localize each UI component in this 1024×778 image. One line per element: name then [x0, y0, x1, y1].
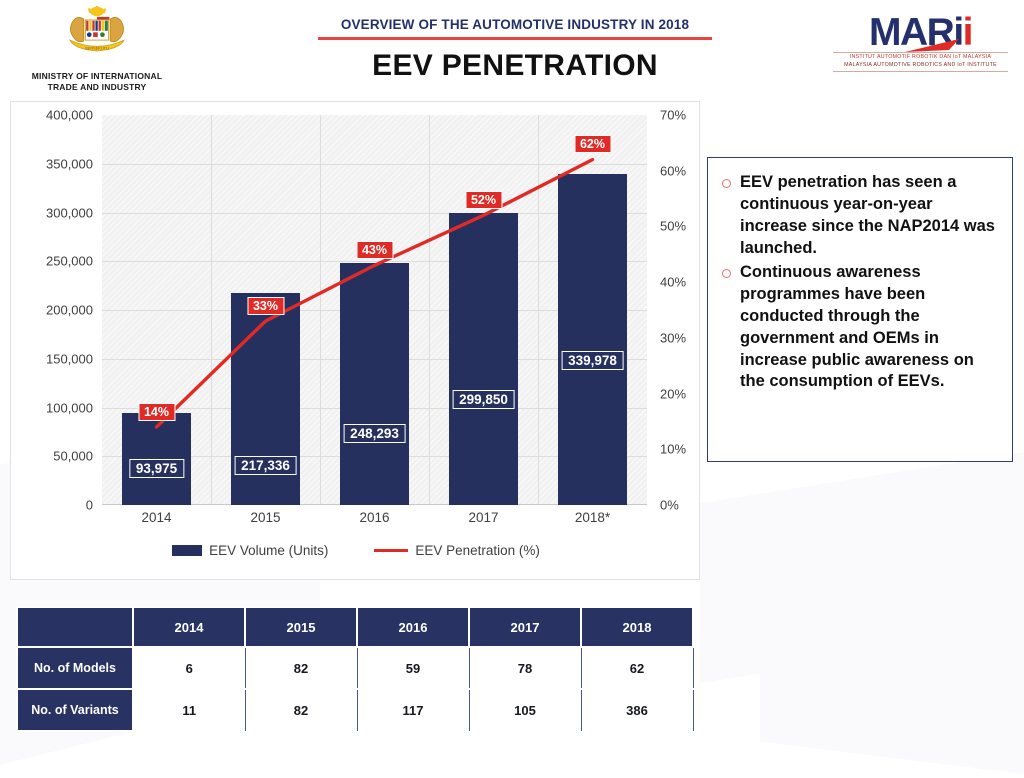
legend-line-swatch-icon	[374, 549, 408, 552]
legend-bar-swatch-icon	[172, 545, 202, 556]
cell-variants-2017: 105	[469, 689, 581, 731]
table-corner-cell	[17, 607, 133, 647]
pct-label-2015: 33%	[247, 297, 284, 315]
legend-label-volume: EEV Volume (Units)	[209, 543, 328, 558]
row-label-variants: No. of Variants	[17, 689, 133, 731]
cell-models-2015: 82	[245, 647, 357, 689]
marii-tagline-en: MALAYSIA AUTOMOTIVE ROBOTICS AND IoT INS…	[833, 62, 1008, 70]
y2-tick-30: 30%	[660, 330, 686, 345]
y-tick-400000: 400,000	[46, 108, 93, 123]
notes-panel: EEV penetration has seen a continuous ye…	[707, 157, 1013, 462]
marii-wordmark: MARii	[869, 14, 972, 51]
x-tick-2014: 2014	[141, 510, 171, 525]
y-tick-250000: 250,000	[46, 254, 93, 269]
y2-tick-40: 40%	[660, 275, 686, 290]
ministry-name-line1: MINISTRY OF INTERNATIONAL	[22, 71, 172, 82]
eev-penetration-chart: 400,000 350,000 300,000 250,000 200,000 …	[10, 101, 700, 580]
ministry-logo: BERSEKUTU MINISTRY OF INTERNATIONAL TRAD…	[22, 6, 172, 93]
page-header: BERSEKUTU MINISTRY OF INTERNATIONAL TRAD…	[0, 0, 1024, 100]
y2-tick-10: 10%	[660, 442, 686, 457]
y-axis-right: 70% 60% 50% 40% 30% 20% 10% 0%	[652, 102, 698, 518]
y-tick-200000: 200,000	[46, 303, 93, 318]
legend-label-penetration: EEV Penetration (%)	[415, 543, 540, 558]
pct-label-2018: 62%	[574, 135, 611, 153]
cell-variants-2015: 82	[245, 689, 357, 731]
x-axis-labels: 2014 2015 2016 2017 2018*	[102, 510, 647, 536]
note-text-1: EEV penetration has seen a continuous ye…	[740, 172, 1000, 260]
cell-variants-2018: 386	[581, 689, 693, 731]
x-tick-2016: 2016	[359, 510, 389, 525]
cell-models-2014: 6	[133, 647, 245, 689]
y2-tick-70: 70%	[660, 108, 686, 123]
note-text-2: Continuous awareness programmes have bee…	[740, 262, 1000, 394]
table-col-2014: 2014	[133, 607, 245, 647]
legend-item-volume[interactable]: EEV Volume (Units)	[172, 543, 328, 558]
header-kicker: OVERVIEW OF THE AUTOMOTIVE INDUSTRY IN 2…	[341, 17, 689, 35]
svg-text:BERSEKUTU: BERSEKUTU	[85, 45, 109, 50]
y2-tick-0: 0%	[660, 498, 679, 513]
pct-label-2017: 52%	[465, 191, 502, 209]
x-tick-2015: 2015	[250, 510, 280, 525]
table-col-2018: 2018	[581, 607, 693, 647]
note-item: Continuous awareness programmes have bee…	[722, 262, 1000, 394]
y-tick-150000: 150,000	[46, 351, 93, 366]
cell-variants-2016: 117	[357, 689, 469, 731]
marii-logo: MARii INSTITUT AUTOMOTIF ROBOTIK DAN IoT…	[833, 14, 1008, 72]
note-item: EEV penetration has seen a continuous ye…	[722, 172, 1000, 260]
page-title: EEV PENETRATION	[255, 49, 775, 83]
row-label-models: No. of Models	[17, 647, 133, 689]
y-tick-100000: 100,000	[46, 400, 93, 415]
y-tick-0: 0	[86, 498, 93, 513]
kicker-underline	[318, 37, 712, 40]
table-col-2016: 2016	[357, 607, 469, 647]
malaysia-coat-of-arms-icon: BERSEKUTU	[54, 6, 140, 68]
title-block: OVERVIEW OF THE AUTOMOTIVE INDUSTRY IN 2…	[255, 16, 775, 83]
marii-tagline-bm: INSTITUT AUTOMOTIF ROBOTIK DAN IoT MALAY…	[833, 54, 1008, 62]
cell-variants-2014: 11	[133, 689, 245, 731]
table-row: No. of Variants 11 82 117 105 386	[17, 689, 693, 731]
x-tick-2018: 2018*	[575, 510, 610, 525]
y2-tick-60: 60%	[660, 163, 686, 178]
y2-tick-20: 20%	[660, 386, 686, 401]
chart-plot-area: 93,975 217,336 248,293 299,850 339,978 1…	[102, 115, 647, 505]
marii-tagline: INSTITUT AUTOMOTIF ROBOTIK DAN IoT MALAY…	[833, 52, 1008, 72]
pct-label-2016: 43%	[356, 241, 393, 259]
ministry-name-line2: TRADE AND INDUSTRY	[22, 82, 172, 93]
cell-models-2016: 59	[357, 647, 469, 689]
bullet-circle-icon	[722, 179, 731, 188]
marii-swoosh-icon	[903, 38, 963, 54]
chart-legend: EEV Volume (Units) EEV Penetration (%)	[11, 543, 701, 558]
y2-tick-50: 50%	[660, 219, 686, 234]
y-tick-300000: 300,000	[46, 205, 93, 220]
y-tick-350000: 350,000	[46, 156, 93, 171]
pct-label-2014: 14%	[138, 403, 175, 421]
cell-models-2017: 78	[469, 647, 581, 689]
table-col-2017: 2017	[469, 607, 581, 647]
table-row: No. of Models 6 82 59 78 62	[17, 647, 693, 689]
table-header-row: 2014 2015 2016 2017 2018	[17, 607, 693, 647]
y-axis-left: 400,000 350,000 300,000 250,000 200,000 …	[11, 102, 97, 518]
x-tick-2017: 2017	[468, 510, 498, 525]
models-variants-table: 2014 2015 2016 2017 2018 No. of Models 6…	[16, 606, 694, 732]
legend-item-penetration[interactable]: EEV Penetration (%)	[374, 543, 540, 558]
cell-models-2018: 62	[581, 647, 693, 689]
penetration-line	[102, 115, 647, 505]
y-tick-50000: 50,000	[53, 449, 93, 464]
bullet-circle-icon	[722, 269, 731, 278]
table-col-2015: 2015	[245, 607, 357, 647]
